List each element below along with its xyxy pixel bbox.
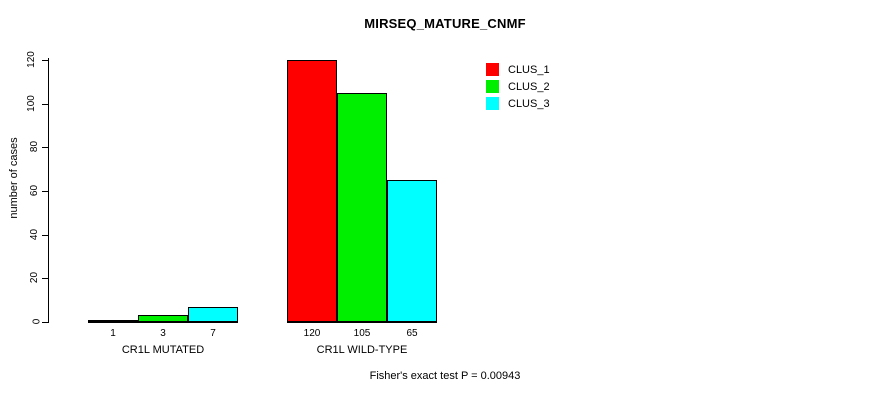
- bar: [337, 93, 387, 322]
- group-baseline: [287, 322, 437, 323]
- x-axis-group-label: CR1L WILD-TYPE: [247, 344, 477, 356]
- legend-item: CLUS_2: [486, 78, 550, 95]
- y-axis-tick-label: 40: [0, 229, 40, 241]
- legend-color-swatch: [486, 63, 499, 76]
- x-axis-tick-label: 7: [188, 328, 238, 339]
- group-baseline: [88, 322, 238, 323]
- bar: [387, 180, 437, 322]
- y-axis-line: [48, 58, 49, 323]
- x-axis-tick-label: 1: [88, 328, 138, 339]
- y-axis-tick: [42, 147, 48, 148]
- x-axis-tick-label: 105: [337, 328, 387, 339]
- y-axis-tick: [42, 191, 48, 192]
- y-axis-tick: [42, 235, 48, 236]
- bar: [287, 60, 337, 322]
- legend-label: CLUS_1: [508, 64, 550, 76]
- y-axis-tick-label: 0: [0, 316, 40, 328]
- y-axis-tick: [42, 322, 48, 323]
- legend-item: CLUS_1: [486, 61, 550, 78]
- y-axis-tick: [42, 104, 48, 105]
- y-axis-tick-label: 60: [0, 185, 40, 197]
- y-axis-tick: [42, 60, 48, 61]
- chart-canvas: MIRSEQ_MATURE_CNMF 020406080100120 numbe…: [0, 0, 890, 400]
- y-axis-tick-label: 20: [0, 272, 40, 284]
- legend-color-swatch: [486, 80, 499, 93]
- y-axis-tick-label: 100: [0, 98, 40, 110]
- y-axis-tick: [42, 278, 48, 279]
- legend-label: CLUS_2: [508, 81, 550, 93]
- bar: [138, 315, 188, 322]
- page-title: MIRSEQ_MATURE_CNMF: [0, 16, 890, 31]
- legend-item: CLUS_3: [486, 95, 550, 112]
- bar: [188, 307, 238, 322]
- y-axis-title: number of cases: [8, 118, 20, 238]
- y-axis-tick-label: 120: [0, 54, 40, 66]
- statistical-annotation: Fisher's exact test P = 0.00943: [0, 370, 890, 382]
- x-axis-group-label: CR1L MUTATED: [48, 344, 278, 356]
- y-axis-tick-label: 80: [0, 141, 40, 153]
- legend-label: CLUS_3: [508, 98, 550, 110]
- legend: CLUS_1CLUS_2CLUS_3: [486, 61, 550, 112]
- x-axis-tick-label: 65: [387, 328, 437, 339]
- x-axis-tick-label: 120: [287, 328, 337, 339]
- x-axis-tick-label: 3: [138, 328, 188, 339]
- legend-color-swatch: [486, 97, 499, 110]
